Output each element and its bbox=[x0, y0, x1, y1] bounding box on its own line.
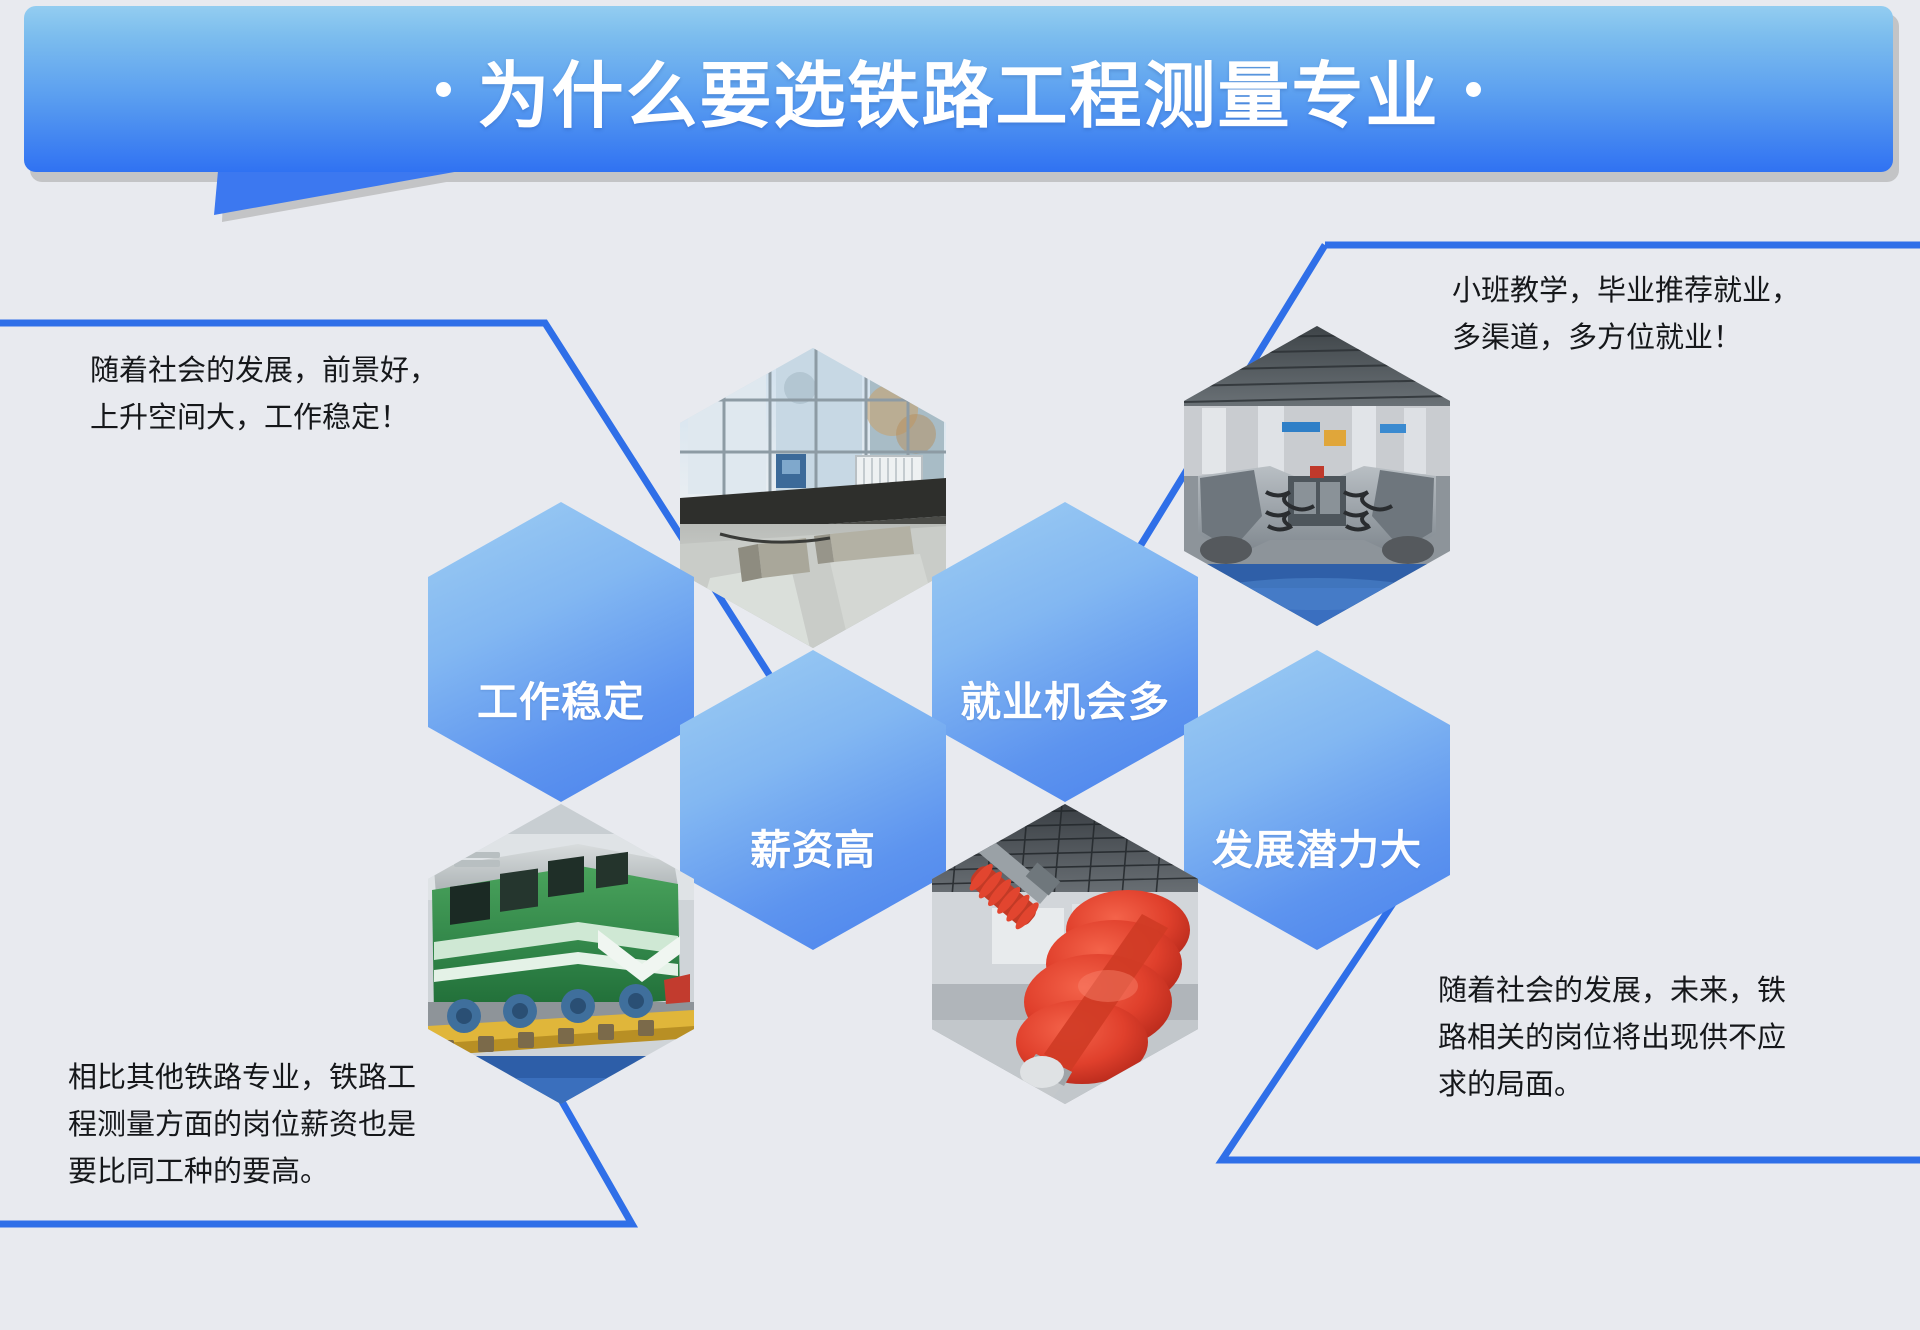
photo-insulator-art bbox=[932, 804, 1198, 1104]
hexagon-work-stable[interactable]: 工作稳定 bbox=[428, 502, 694, 802]
photo-lab-bench bbox=[680, 348, 946, 648]
hexagon-job-opportunity-label: 就业机会多 bbox=[960, 668, 1170, 802]
infographic-root: 为什么要选铁路工程测量专业 bbox=[0, 0, 1920, 1330]
photo-bogie-art bbox=[1184, 326, 1450, 626]
callout-top-left: 随着社会的发展，前景好， 上升空间大，工作稳定！ bbox=[90, 348, 520, 442]
photo-lab-bench-art bbox=[680, 348, 946, 648]
hexagon-salary-high[interactable]: 薪资高 bbox=[680, 650, 946, 950]
hexagon-growth-potential[interactable]: 发展潜力大 bbox=[1184, 650, 1450, 950]
photo-insulator bbox=[932, 804, 1198, 1104]
hexagon-job-opportunity[interactable]: 就业机会多 bbox=[932, 502, 1198, 802]
hexagon-growth-potential-label: 发展潜力大 bbox=[1212, 816, 1422, 950]
callout-bottom-left: 相比其他铁路专业，铁路工 程测量方面的岗位薪资也是 要比同工种的要高。 bbox=[68, 1055, 498, 1196]
photo-bogie bbox=[1184, 326, 1450, 626]
callout-top-right: 小班教学，毕业推荐就业， 多渠道，多方位就业！ bbox=[1452, 268, 1882, 362]
hexagon-salary-high-label: 薪资高 bbox=[750, 816, 876, 950]
callout-bottom-right: 随着社会的发展，未来，铁 路相关的岗位将出现供不应 求的局面。 bbox=[1438, 968, 1868, 1109]
hexagon-work-stable-label: 工作稳定 bbox=[477, 668, 645, 802]
